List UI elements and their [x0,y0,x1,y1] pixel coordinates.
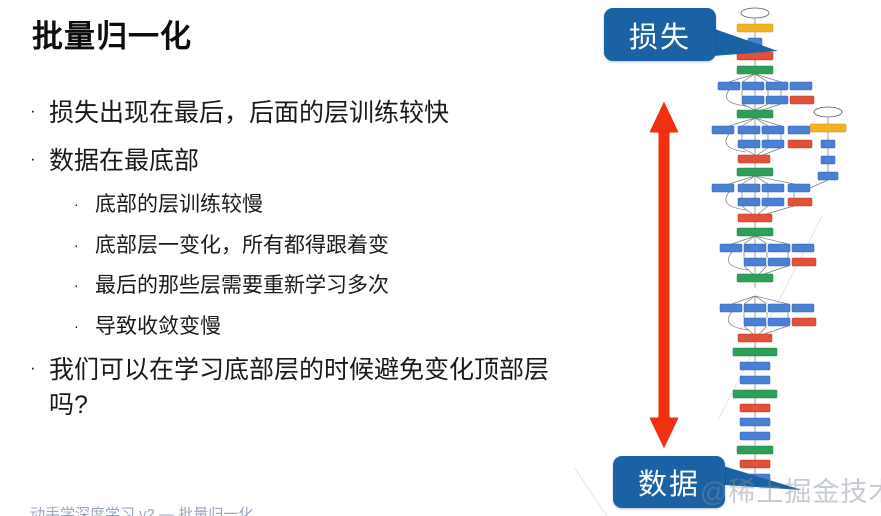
graph-node-input-aux [814,107,842,117]
list-item: · 导致收敛变慢 [30,313,570,342]
graph-node-blue [821,140,835,148]
graph-node-red [792,318,816,326]
graph-node-blue [742,82,764,90]
callout-loss-label: 损失 [629,14,691,56]
graph-node-green [737,446,773,454]
list-item-label: 底部层一变化，所有都得跟着变 [95,232,570,261]
bullet-marker-icon: · [30,96,49,119]
list-item-label: 我们可以在学习底部层的时候避免变化顶部层吗? [49,353,570,422]
graph-node-blue [740,376,770,384]
graph-node-green [737,66,773,74]
list-item-label: 最后的那些层需要重新学习多次 [95,272,570,301]
slide-canvas: 批量归一化 · 损失出现在最后，后面的层训练较快 · 数据在最底部 · 底部的层… [0,0,881,516]
watermark: @稀土掘金技术社区 [700,470,881,509]
slide-footnote: 动手学深度学习 v2 — 批量归一化 [30,503,253,516]
list-item: · 我们可以在学习底部层的时候避免变化顶部层吗? [30,353,570,422]
graph-node-blue [740,418,770,426]
list-item: · 数据在最底部 [30,144,570,179]
graph-node-blue [738,126,760,134]
graph-node-blue [821,156,835,164]
list-item: · 最后的那些层需要重新学习多次 [30,272,570,301]
list-item-label: 损失出现在最后，后面的层训练较快 [49,96,570,131]
graph-node-blue [744,258,766,266]
graph-node-blue [788,184,810,192]
graph-node-blue [762,126,784,134]
graph-node-blue [720,304,742,312]
graph-node-blue [720,244,742,252]
graph-node-blue [744,244,766,252]
graph-node-blue [788,126,810,134]
list-item-label: 数据在最底部 [49,144,570,179]
graph-node-blue [712,126,734,134]
bullet-marker-icon: · [74,313,95,333]
graph-node-red [738,214,772,222]
graph-node-red [737,52,773,60]
graph-node-blue [818,172,838,180]
graph-node-blue [738,198,760,206]
callout-data-label: 数据 [638,461,700,503]
graph-node-red [788,198,812,206]
list-item: · 损失出现在最后，后面的层训练较快 [30,96,570,131]
bullet-marker-icon: · [74,272,95,292]
list-item: · 底部的层训练较慢 [30,191,570,220]
graph-node-red [738,155,770,163]
graph-node-red [792,258,816,266]
list-item-label: 底部的层训练较慢 [95,191,570,220]
graph-node-blue [768,318,790,326]
graph-node-blue [766,82,788,90]
graph-node-blue [718,82,740,90]
list-item-label: 导致收敛变慢 [95,313,570,342]
graph-node-blue [762,198,784,206]
graph-node-blue [790,82,812,90]
graph-node-blue [768,304,790,312]
graph-node-output [741,8,769,18]
bullet-marker-icon: · [74,191,95,211]
graph-node-blue [742,96,764,104]
graph-node-red [790,96,814,104]
graph-node-green [737,168,773,176]
graph-node-blue [740,362,770,370]
graph-node-blue [738,140,760,148]
graph-node-blue [792,244,814,252]
graph-node-red [788,140,812,148]
graph-node-red [740,404,770,412]
graph-node-blue [712,184,734,192]
bullet-marker-icon: · [74,232,95,252]
graph-node-red [740,460,770,468]
graph-node-red [738,334,772,342]
neural-network-graph: .eg { stroke:#7a7a7a; stroke-width:0.7; … [560,0,881,516]
graph-node-green [737,274,773,282]
bullet-list: · 损失出现在最后，后面的层训练较快 · 数据在最底部 · 底部的层训练较慢 ·… [30,96,570,435]
list-item: · 底部层一变化，所有都得跟着变 [30,232,570,261]
graph-node-blue [792,304,814,312]
graph-node-blue [744,304,766,312]
graph-node-green [733,348,777,356]
graph-node-green [737,228,773,236]
graph-node-blue [768,258,790,266]
callout-loss[interactable]: 损失 [604,8,716,61]
bullet-marker-icon: · [30,353,49,376]
graph-node-yellow [737,24,773,32]
bullet-marker-icon: · [30,144,49,167]
graph-node-blue [738,184,760,192]
graph-node-blue [744,318,766,326]
graph-node-green [733,390,777,398]
graph-node-yellow [810,124,846,132]
graph-node-blue [748,38,762,46]
graph-node-blue [768,244,790,252]
graph-node-blue [766,96,788,104]
diagram-panel: .eg { stroke:#7a7a7a; stroke-width:0.7; … [560,0,881,516]
vertical-double-arrow-icon [645,96,683,454]
graph-node-green [737,110,773,118]
graph-node-blue [762,140,784,148]
page-title: 批量归一化 [32,11,192,56]
graph-node-blue [762,184,784,192]
graph-node-blue [740,432,770,440]
